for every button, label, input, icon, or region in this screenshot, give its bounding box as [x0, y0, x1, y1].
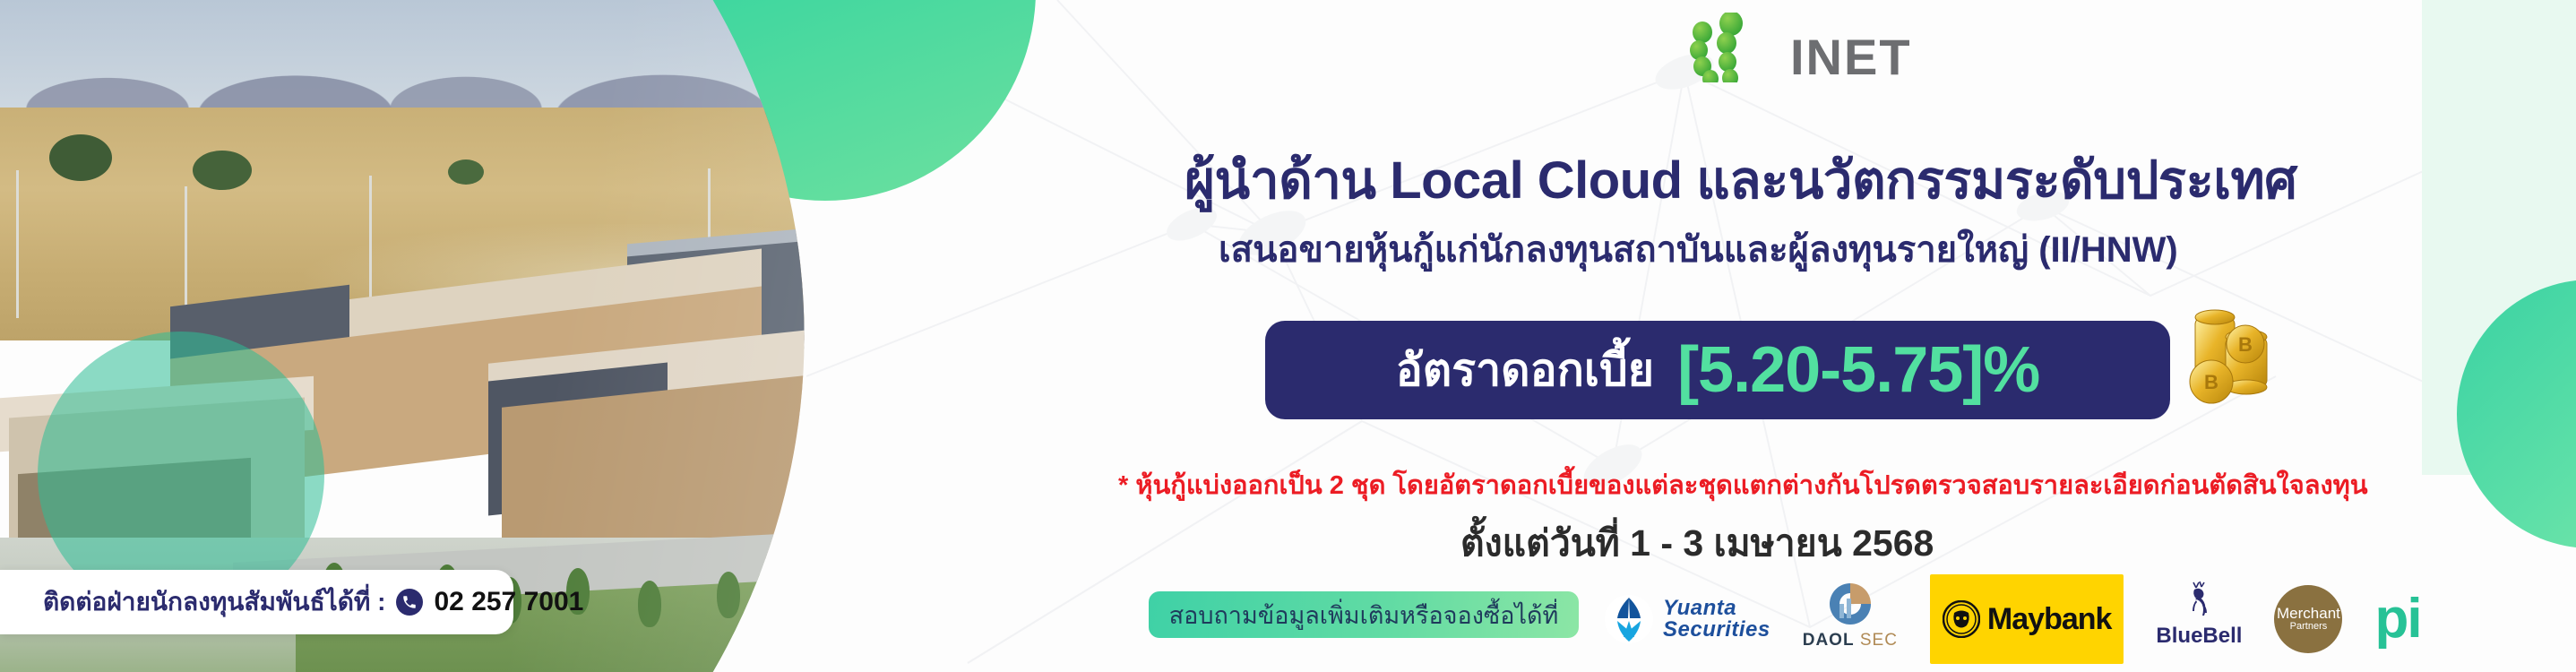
merchant-circle-icon: Merchant Partners [2274, 585, 2342, 653]
inet-logo[interactable]: INET [1681, 13, 1977, 82]
yuanta-line1: Yuanta [1663, 598, 1770, 619]
maybank-label: Maybank [1987, 602, 2112, 637]
daol-light: SEC [1860, 631, 1898, 650]
partner-merchant-partners[interactable]: Merchant Partners [2274, 581, 2342, 658]
maybank-tiger-icon [1943, 600, 1980, 638]
disclaimer-note: * หุ้นกู้แบ่งออกเป็น 2 ชุด โดยอัตราดอกเบ… [1118, 464, 2570, 505]
page-title: ผู้นำด้าน Local Cloud และนวัตกรรมระดับปร… [1185, 152, 2439, 210]
yuanta-mark-icon [1604, 594, 1654, 644]
interest-rate-value: [5.20-5.75]% [1677, 338, 2039, 402]
partner-daol-sec[interactable]: DAOL SEC [1803, 581, 1898, 658]
inquiry-cta-button[interactable]: สอบถามข้อมูลเพิ่มเติมหรือจองซื้อได้ที่ [1149, 591, 1579, 638]
daol-bold: DAOL [1803, 631, 1855, 650]
page-subtitle: เสนอขายหุ้นกู้แก่นักลงทุนสถาบันและผู้ลงท… [1219, 229, 2410, 271]
partner-logos: Yuanta Securities DAOL SEC [1604, 581, 2554, 658]
svg-text:B: B [2238, 333, 2253, 356]
interest-rate-box: อัตราดอกเบี้ย [5.20-5.75]% [1265, 321, 2170, 419]
svg-text:B: B [2204, 371, 2218, 393]
yuanta-line2: Securities [1663, 619, 1770, 641]
inet-logo-text: INET [1790, 32, 1912, 82]
offer-date-range: ตั้งแต่วันที่ 1 - 3 เมษายน 2568 [1460, 514, 2088, 573]
contact-phone-number: 02 257 7001 [434, 587, 583, 617]
partner-maybank[interactable]: Maybank [1930, 574, 2124, 664]
merchant-line2: Partners [2290, 622, 2328, 633]
partner-bluebell[interactable]: BlueBell [2156, 581, 2242, 658]
bluebell-deer-icon [2178, 581, 2219, 622]
daol-donut-icon [1827, 581, 1874, 627]
inquiry-cta-label: สอบถามข้อมูลเพิ่มเติมหรือจองซื้อได้ที่ [1169, 596, 1559, 634]
investor-relations-contact[interactable]: ติดต่อฝ่ายนักลงทุนสัมพันธ์ได้ที่ : 02 25… [0, 570, 513, 634]
partner-pi[interactable]: pi [2374, 581, 2420, 658]
merchant-line1: Merchant [2277, 606, 2340, 622]
bluebell-label: BlueBell [2156, 624, 2242, 649]
gold-coins-icon: B B [2179, 305, 2296, 421]
inet-dots-logo-icon [1681, 13, 1797, 82]
interest-rate-label: อัตราดอกเบี้ย [1396, 348, 1654, 392]
phone-icon [396, 589, 423, 616]
pi-label: pi [2374, 597, 2420, 642]
contact-label: ติดต่อฝ่ายนักลงทุนสัมพันธ์ได้ที่ : [43, 582, 385, 622]
promo-banner: INET ผู้นำด้าน Local Cloud และนวัตกรรมระ… [0, 0, 2576, 672]
partner-yuanta[interactable]: Yuanta Securities [1604, 581, 1770, 658]
